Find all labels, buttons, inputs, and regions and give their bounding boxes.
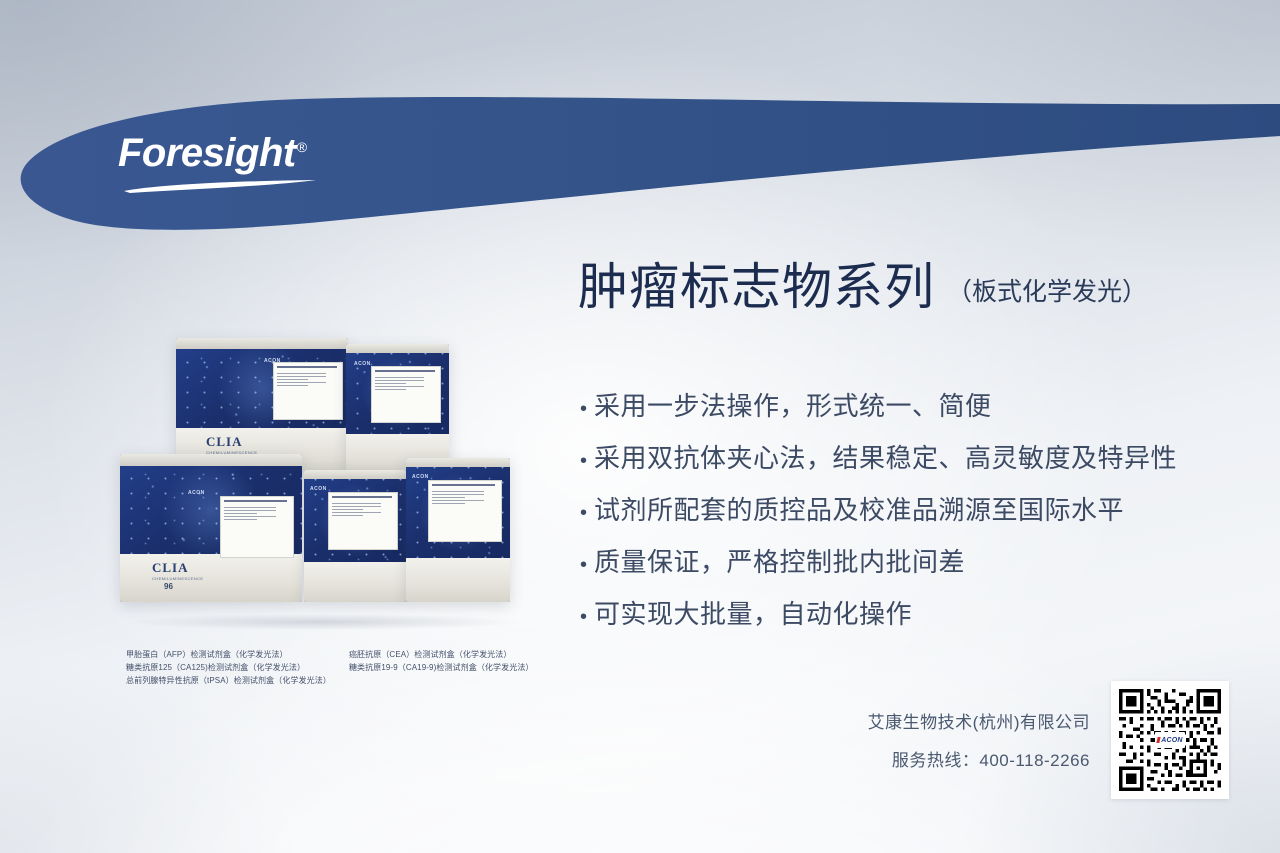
box-bottom-band [304, 562, 406, 602]
box-top-edge [346, 344, 449, 353]
box-label [273, 362, 343, 420]
page-title: 肿瘤标志物系列 （板式化学发光） [578, 262, 1147, 312]
list-item: 癌胚抗原（CEA）检测试剂盒（化学发光法） [349, 648, 534, 661]
box-bottom-band [406, 558, 510, 602]
registered-trademark-icon: ® [297, 139, 307, 155]
title-sub-text: （板式化学发光） [947, 272, 1147, 308]
qr-center-logo-text: ACON [1161, 737, 1182, 744]
box-label [220, 496, 294, 558]
list-item: 总前列腺特异性抗原（tPSA）检测试剂盒（化学发光法） [126, 674, 331, 687]
qr-center-logo: ACON [1155, 732, 1185, 748]
box-label [428, 480, 502, 542]
box-top-edge [176, 338, 348, 349]
box-top-edge [406, 458, 510, 467]
box-top-edge [120, 454, 302, 466]
bullet-dot-icon: • [580, 399, 594, 419]
list-item: • 采用一步法操作，形式统一、简便 [580, 392, 1240, 422]
feature-bullet-list: • 采用一步法操作，形式统一、简便 • 采用双抗体夹心法，结果稳定、高灵敏度及特… [580, 392, 1240, 651]
poster-root: Foresight® 肿瘤标志物系列 （板式化学发光） • 采用一步法操作，形式… [0, 0, 1280, 853]
acon-mark-icon: ACON [310, 486, 327, 492]
list-item: • 采用双抗体夹心法，结果稳定、高灵敏度及特异性 [580, 444, 1240, 474]
clia-mark-sub: CHEMILUMINESCENCE [152, 576, 203, 581]
list-item: • 试剂所配套的质控品及校准品溯源至国际水平 [580, 496, 1240, 526]
product-list-right-column: 癌胚抗原（CEA）检测试剂盒（化学发光法） 糖类抗原19-9（CA19-9)检测… [349, 648, 534, 687]
title-main-text: 肿瘤标志物系列 [578, 262, 935, 312]
box-label [328, 492, 398, 550]
clia-mark: CLIA CHEMILUMINESCENCE [206, 434, 257, 455]
bullet-text: 试剂所配套的质控品及校准品溯源至国际水平 [594, 496, 1240, 526]
brand-logo-wordmark: Foresight [118, 131, 296, 175]
bullet-dot-icon: • [580, 451, 594, 471]
box-bottom-band [120, 554, 302, 602]
product-box-top-right: ACON [346, 344, 449, 472]
kit-count-number: 96 [164, 582, 173, 591]
logo-underline-swoosh-icon [122, 180, 318, 193]
product-photo: ACON CLIA CHEMILUMINESCENCE 96 [118, 330, 528, 630]
product-box-top-left: ACON CLIA CHEMILUMINESCENCE 96 [176, 338, 348, 470]
company-hotline: 服务热线：400-118-2266 [868, 746, 1090, 771]
bullet-dot-icon: • [580, 503, 594, 523]
product-box-bottom-left: ACON CLIA CHEMILUMINESCENCE 96 [120, 454, 302, 602]
acon-mark-icon: ACON [412, 474, 429, 480]
clia-mark-text: CLIA [152, 560, 189, 575]
kit-count: 96 [164, 582, 173, 591]
product-photo-shadow [128, 614, 518, 630]
company-name: 艾康生物技术(杭州)有限公司 [868, 708, 1090, 733]
product-name-list: 甲胎蛋白（AFP）检测试剂盒（化学发光法） 糖类抗原125（CA125)检测试剂… [126, 648, 566, 687]
qr-code-card[interactable]: ACON [1111, 681, 1229, 799]
brand-logo-text: Foresight® [118, 133, 348, 173]
product-box-bottom-middle: ACON [304, 470, 406, 602]
bullet-dot-icon: • [580, 555, 594, 575]
list-item: 糖类抗原19-9（CA19-9)检测试剂盒（化学发光法） [349, 661, 534, 674]
list-item: 甲胎蛋白（AFP）检测试剂盒（化学发光法） [126, 648, 331, 661]
box-label [371, 366, 441, 423]
bullet-dot-icon: • [580, 607, 594, 627]
bullet-text: 质量保证，严格控制批内批间差 [594, 548, 1240, 578]
box-top-edge [304, 470, 406, 479]
acon-mark-icon: ACON [354, 361, 371, 367]
brand-logo: Foresight® [118, 133, 348, 197]
clia-mark: CLIA CHEMILUMINESCENCE [152, 560, 203, 581]
bullet-text: 采用一步法操作，形式统一、简便 [594, 392, 1240, 422]
product-list-left-column: 甲胎蛋白（AFP）检测试剂盒（化学发光法） 糖类抗原125（CA125)检测试剂… [126, 648, 331, 687]
bullet-text: 可实现大批量，自动化操作 [594, 600, 1240, 630]
product-box-bottom-right: ACON [406, 458, 510, 602]
clia-mark-text: CLIA [206, 434, 243, 449]
list-item: • 可实现大批量，自动化操作 [580, 600, 1240, 630]
acon-mark-icon: ACON [188, 490, 205, 496]
list-item: 糖类抗原125（CA125)检测试剂盒（化学发光法） [126, 661, 331, 674]
list-item: • 质量保证，严格控制批内批间差 [580, 548, 1240, 578]
company-info: 艾康生物技术(杭州)有限公司 服务热线：400-118-2266 [868, 708, 1090, 771]
bullet-text: 采用双抗体夹心法，结果稳定、高灵敏度及特异性 [594, 444, 1240, 474]
